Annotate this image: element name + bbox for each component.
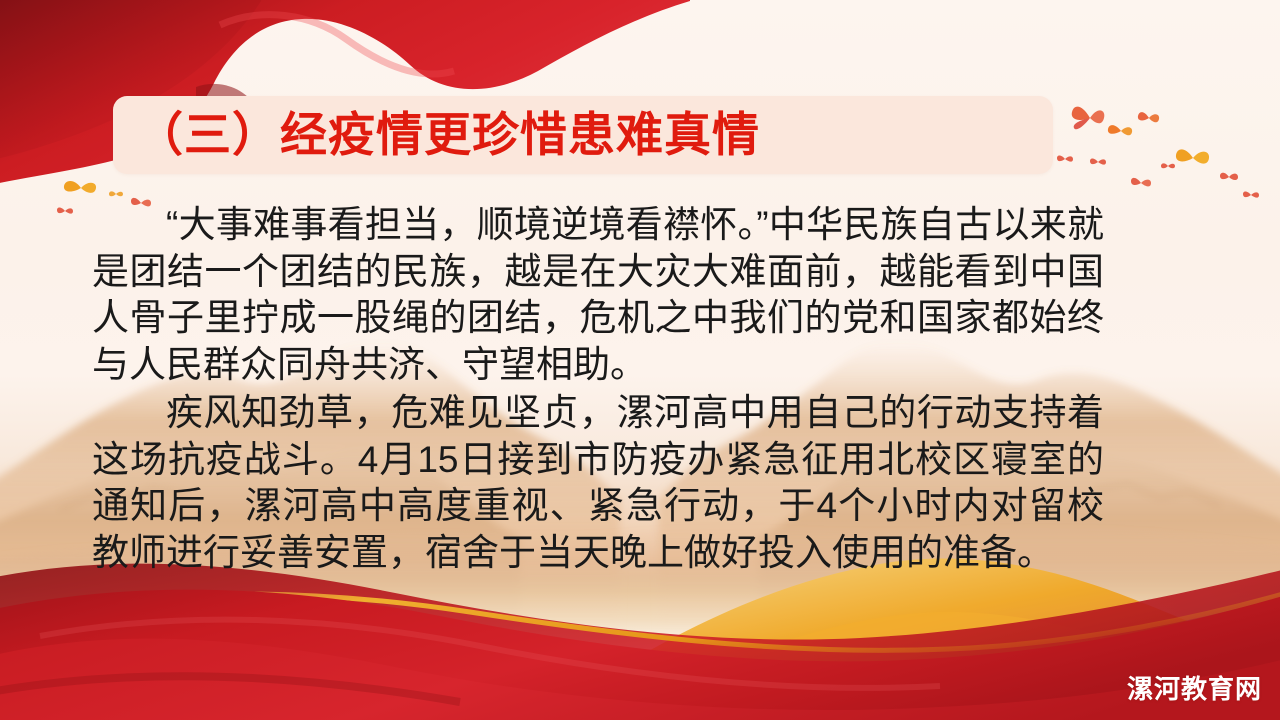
- body-text-block: “大事难事看担当，顺境逆境看襟怀。”中华民族自古以来就是团结一个团结的民族，越是…: [92, 202, 1104, 576]
- slide-canvas: （三）经疫情更珍惜患难真情 “大事难事看担当，顺境逆境看襟怀。”中华民族自古以来…: [0, 0, 1280, 720]
- paragraph-2: 疾风知劲草，危难见坚贞，漯河高中用自己的行动支持着这场抗疫战斗。4月15日接到市…: [92, 390, 1104, 576]
- page-title: （三）经疫情更珍惜患难真情: [136, 100, 1036, 170]
- watermark-label: 漯河教育网: [1127, 669, 1262, 706]
- paragraph-1: “大事难事看担当，顺境逆境看襟怀。”中华民族自古以来就是团结一个团结的民族，越是…: [92, 202, 1104, 388]
